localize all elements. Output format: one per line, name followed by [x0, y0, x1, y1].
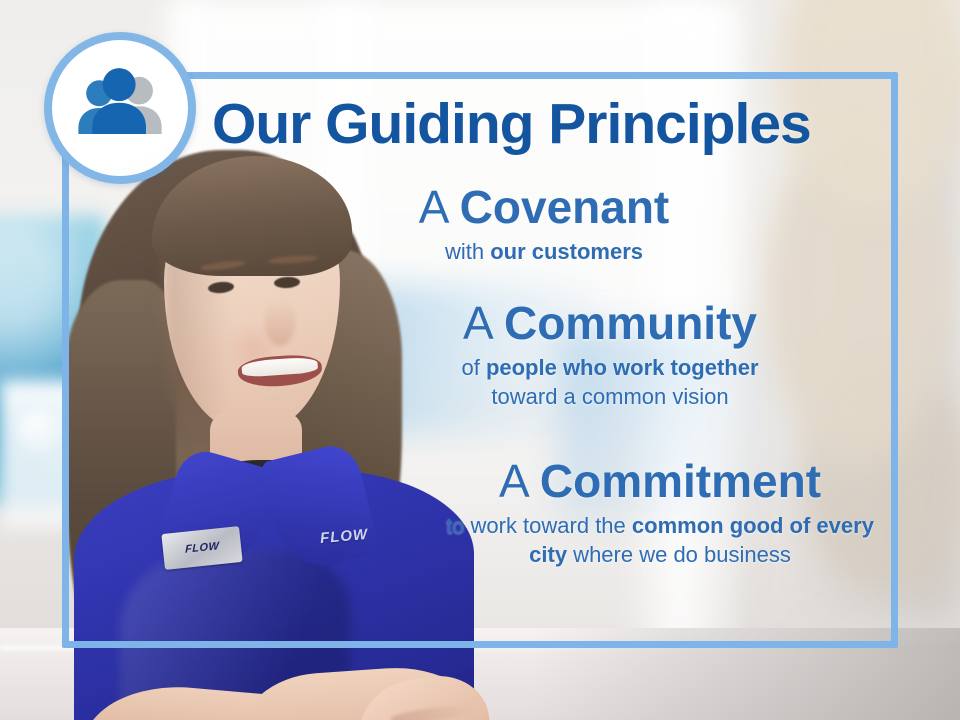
- principle-title: A Commitment: [440, 458, 880, 505]
- teeth: [241, 356, 318, 377]
- principle-article: A: [463, 297, 491, 349]
- people-group-badge: [44, 32, 196, 184]
- principle-title: A Covenant: [334, 184, 754, 231]
- principle-subtitle: with our customers: [334, 238, 754, 267]
- principle-community: A Community of people who work togethert…: [380, 300, 840, 412]
- slide-canvas: FLOW FLOW Our Guiding Principles: [0, 0, 960, 720]
- principle-keyword: Covenant: [460, 181, 670, 233]
- principle-keyword: Community: [504, 297, 757, 349]
- principle-covenant: A Covenant with our customers: [334, 184, 754, 267]
- people-group-icon: [68, 56, 172, 160]
- principle-title: A Community: [380, 300, 840, 347]
- principle-subtitle: of people who work togethertoward a comm…: [380, 354, 840, 411]
- page-title: Our Guiding Principles: [212, 96, 862, 153]
- desk-shadow: [530, 628, 960, 720]
- principle-commitment: A Commitment to work toward the common g…: [440, 458, 880, 570]
- principle-article: A: [419, 181, 447, 233]
- name-badge-text: FLOW: [185, 540, 219, 556]
- principle-keyword: Commitment: [540, 455, 821, 507]
- principle-subtitle: to work toward the common good of every …: [440, 512, 880, 569]
- principle-article: A: [499, 455, 527, 507]
